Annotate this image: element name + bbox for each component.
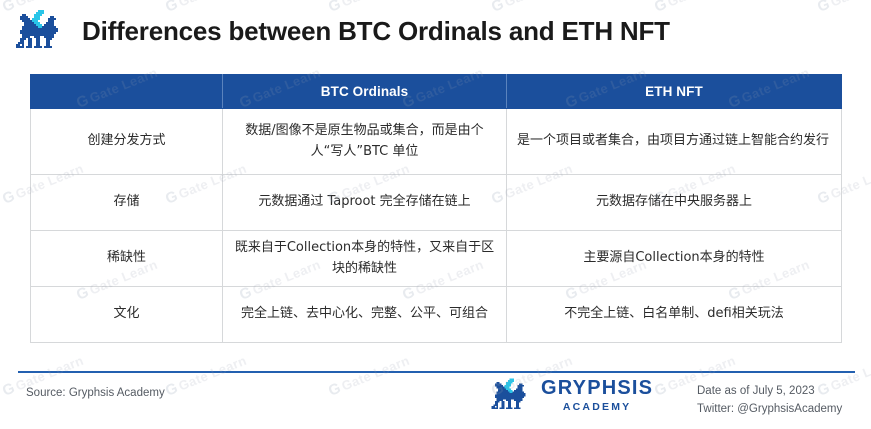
brand-name: GRYPHSIS xyxy=(541,378,653,398)
gryphsis-griffin-logo-icon xyxy=(14,8,66,54)
row-eth-value: 主要源自Collection本身的特性 xyxy=(507,231,842,287)
row-btc-value: 元数据通过 Taproot 完全存储在链上 xyxy=(223,175,507,231)
brand-wordmark: GRYPHSIS ACADEMY xyxy=(541,378,653,413)
footer-date: Date as of July 5, 2023 xyxy=(697,383,842,401)
slide-header: Differences between BTC Ordinals and ETH… xyxy=(0,0,871,62)
table-row: 存储 元数据通过 Taproot 完全存储在链上 元数据存储在中央服务器上 xyxy=(31,175,842,231)
table-row: 文化 完全上链、去中心化、完整、公平、可组合 不完全上链、白名单制、defi相关… xyxy=(31,287,842,343)
row-label: 创建分发方式 xyxy=(31,109,223,175)
column-header-blank xyxy=(31,75,223,109)
table-header-row: BTC Ordinals ETH NFT xyxy=(31,75,842,109)
row-eth-value: 是一个项目或者集合，由项目方通过链上智能合约发行 xyxy=(507,109,842,175)
gryphsis-griffin-logo-icon xyxy=(490,377,532,414)
footer-source-text: Source: Gryphsis Academy xyxy=(26,387,165,399)
column-header-eth-nft: ETH NFT xyxy=(507,75,842,109)
row-label: 稀缺性 xyxy=(31,231,223,287)
brand-subtitle: ACADEMY xyxy=(563,402,632,413)
table-row: 创建分发方式 数据/图像不是原生物品或集合，而是由个人“写人”BTC 单位 是一… xyxy=(31,109,842,175)
slide-footer: Source: Gryphsis Academy xyxy=(0,373,871,429)
column-header-btc-ordinals: BTC Ordinals xyxy=(223,75,507,109)
row-btc-value: 数据/图像不是原生物品或集合，而是由个人“写人”BTC 单位 xyxy=(223,109,507,175)
comparison-table: BTC Ordinals ETH NFT 创建分发方式 数据/图像不是原生物品或… xyxy=(30,74,842,343)
table-row: 稀缺性 既来自于Collection本身的特性，又来自于区块的稀缺性 主要源自C… xyxy=(31,231,842,287)
row-eth-value: 元数据存储在中央服务器上 xyxy=(507,175,842,231)
row-btc-value: 既来自于Collection本身的特性，又来自于区块的稀缺性 xyxy=(223,231,507,287)
row-label: 存储 xyxy=(31,175,223,231)
page-title: Differences between BTC Ordinals and ETH… xyxy=(82,16,670,47)
row-label: 文化 xyxy=(31,287,223,343)
row-btc-value: 完全上链、去中心化、完整、公平、可组合 xyxy=(223,287,507,343)
row-eth-value: 不完全上链、白名单制、defi相关玩法 xyxy=(507,287,842,343)
footer-twitter: Twitter: @GryphsisAcademy xyxy=(697,401,842,419)
footer-meta: Date as of July 5, 2023 Twitter: @Gryphs… xyxy=(697,383,842,419)
slide-canvas: Differences between BTC Ordinals and ETH… xyxy=(0,0,871,429)
footer-brand: GRYPHSIS ACADEMY xyxy=(490,377,653,414)
